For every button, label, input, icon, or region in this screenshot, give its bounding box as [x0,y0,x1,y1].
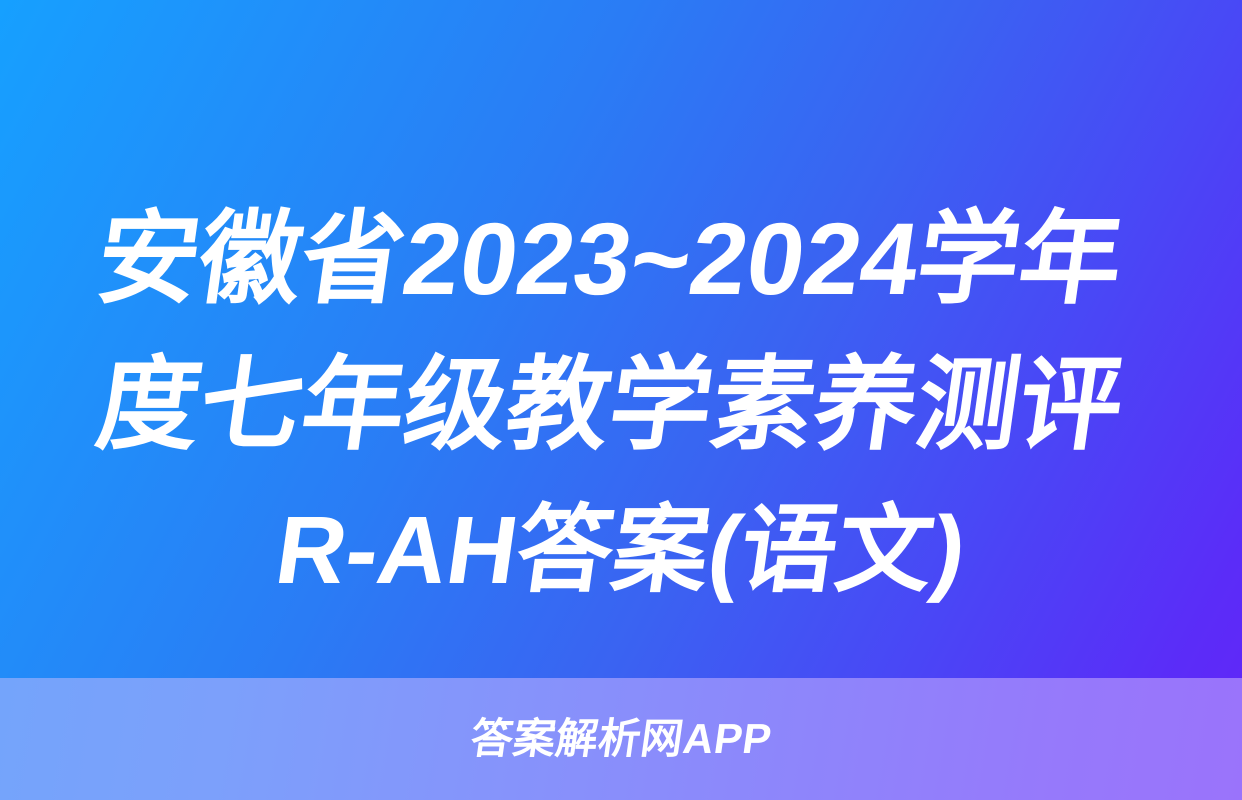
footer-watermark-band: 答案解析网APP [0,678,1242,800]
footer-watermark-text: 答案解析网APP [468,718,774,760]
poster-title-line-1-text: 安徽省2023~2024学年 [88,186,1133,332]
poster-title-line-1: 安徽省2023~2024学年 [88,186,1155,332]
poster-canvas: 安徽省2023~2024学年 度七年级教学素养测评 R-AH答案(语文) 答案解… [0,0,1242,800]
poster-title-block: 安徽省2023~2024学年 度七年级教学素养测评 R-AH答案(语文) [98,186,1144,626]
poster-title-line-3: R-AH答案(语文) [88,478,1155,624]
poster-title-line-2: 度七年级教学素养测评 [88,332,1155,478]
poster-title-line-2-text: 度七年级教学素养测评 [88,332,1133,478]
